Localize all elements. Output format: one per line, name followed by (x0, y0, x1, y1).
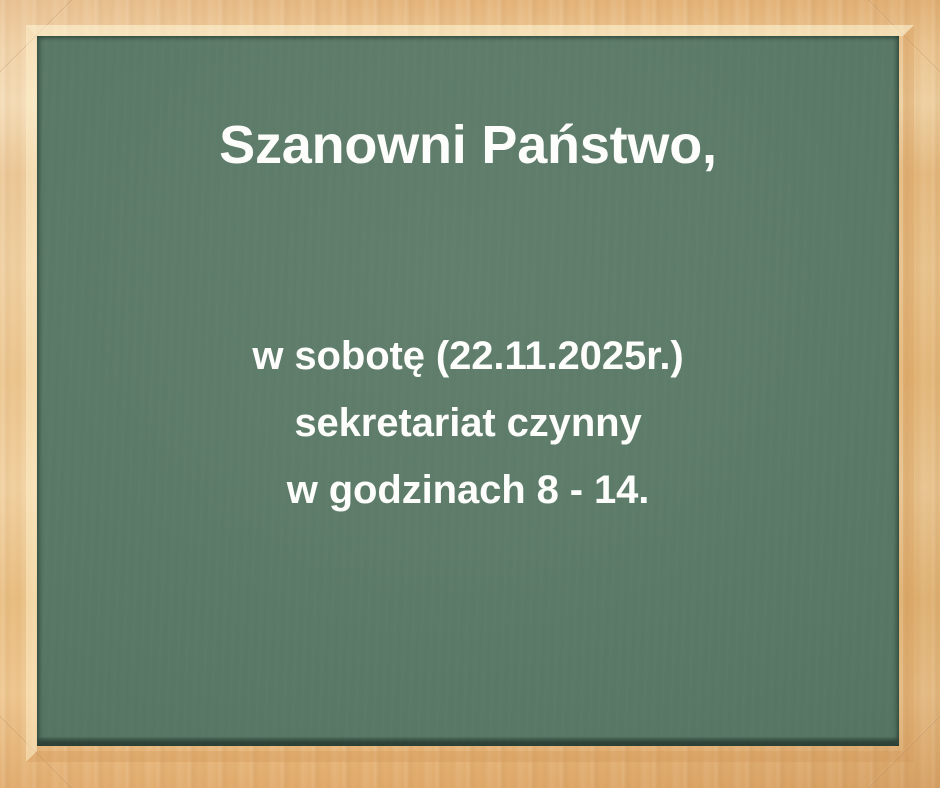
notice-headline: Szanowni Państwo, (37, 114, 899, 178)
chalkboard-content: Szanowni Państwo, w sobotę (22.11.2025r.… (37, 36, 899, 746)
chalkboard-surface: Szanowni Państwo, w sobotę (22.11.2025r.… (37, 36, 899, 746)
notice-message: w sobotę (22.11.2025r.) sekretariat czyn… (37, 323, 899, 524)
notice-message-line-3: w godzinach 8 - 14. (37, 457, 899, 524)
chalkboard-notice: Szanowni Państwo, w sobotę (22.11.2025r.… (0, 0, 940, 788)
notice-message-line-1: w sobotę (22.11.2025r.) (37, 323, 899, 390)
notice-message-line-2: sekretariat czynny (37, 390, 899, 457)
